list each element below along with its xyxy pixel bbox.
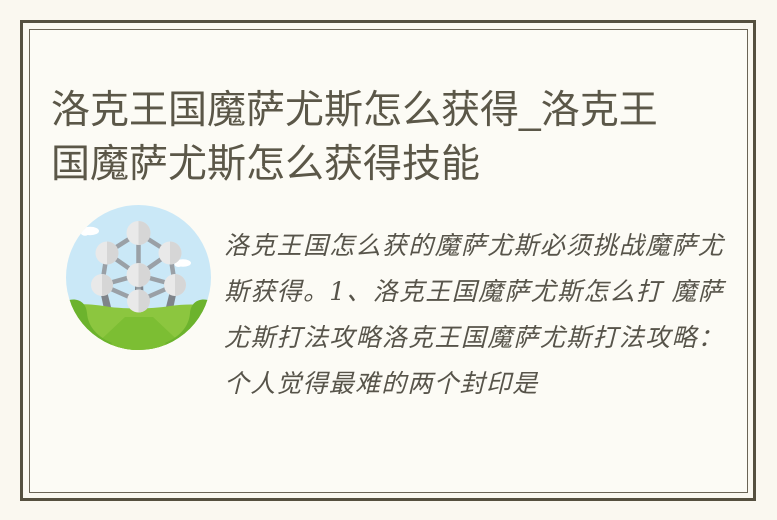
page-title: 洛克王国魔萨尤斯怎么获得_洛克王国魔萨尤斯怎么获得技能 <box>51 84 691 192</box>
page-root: 洛克王国魔萨尤斯怎么获得_洛克王国魔萨尤斯怎么获得技能 <box>0 0 777 520</box>
article-card: 洛克王国魔萨尤斯怎么获得_洛克王国魔萨尤斯怎么获得技能 <box>30 30 747 492</box>
article-summary-text: 洛克王国怎么获的魔萨尤斯必须挑战魔萨尤斯获得。1、洛克王国魔萨尤斯怎么打 魔萨尤… <box>224 223 724 407</box>
atomium-illustration-icon <box>66 205 211 350</box>
article-body: 洛克王国怎么获的魔萨尤斯必须挑战魔萨尤斯获得。1、洛克王国魔萨尤斯怎么打 魔萨尤… <box>51 198 727 463</box>
